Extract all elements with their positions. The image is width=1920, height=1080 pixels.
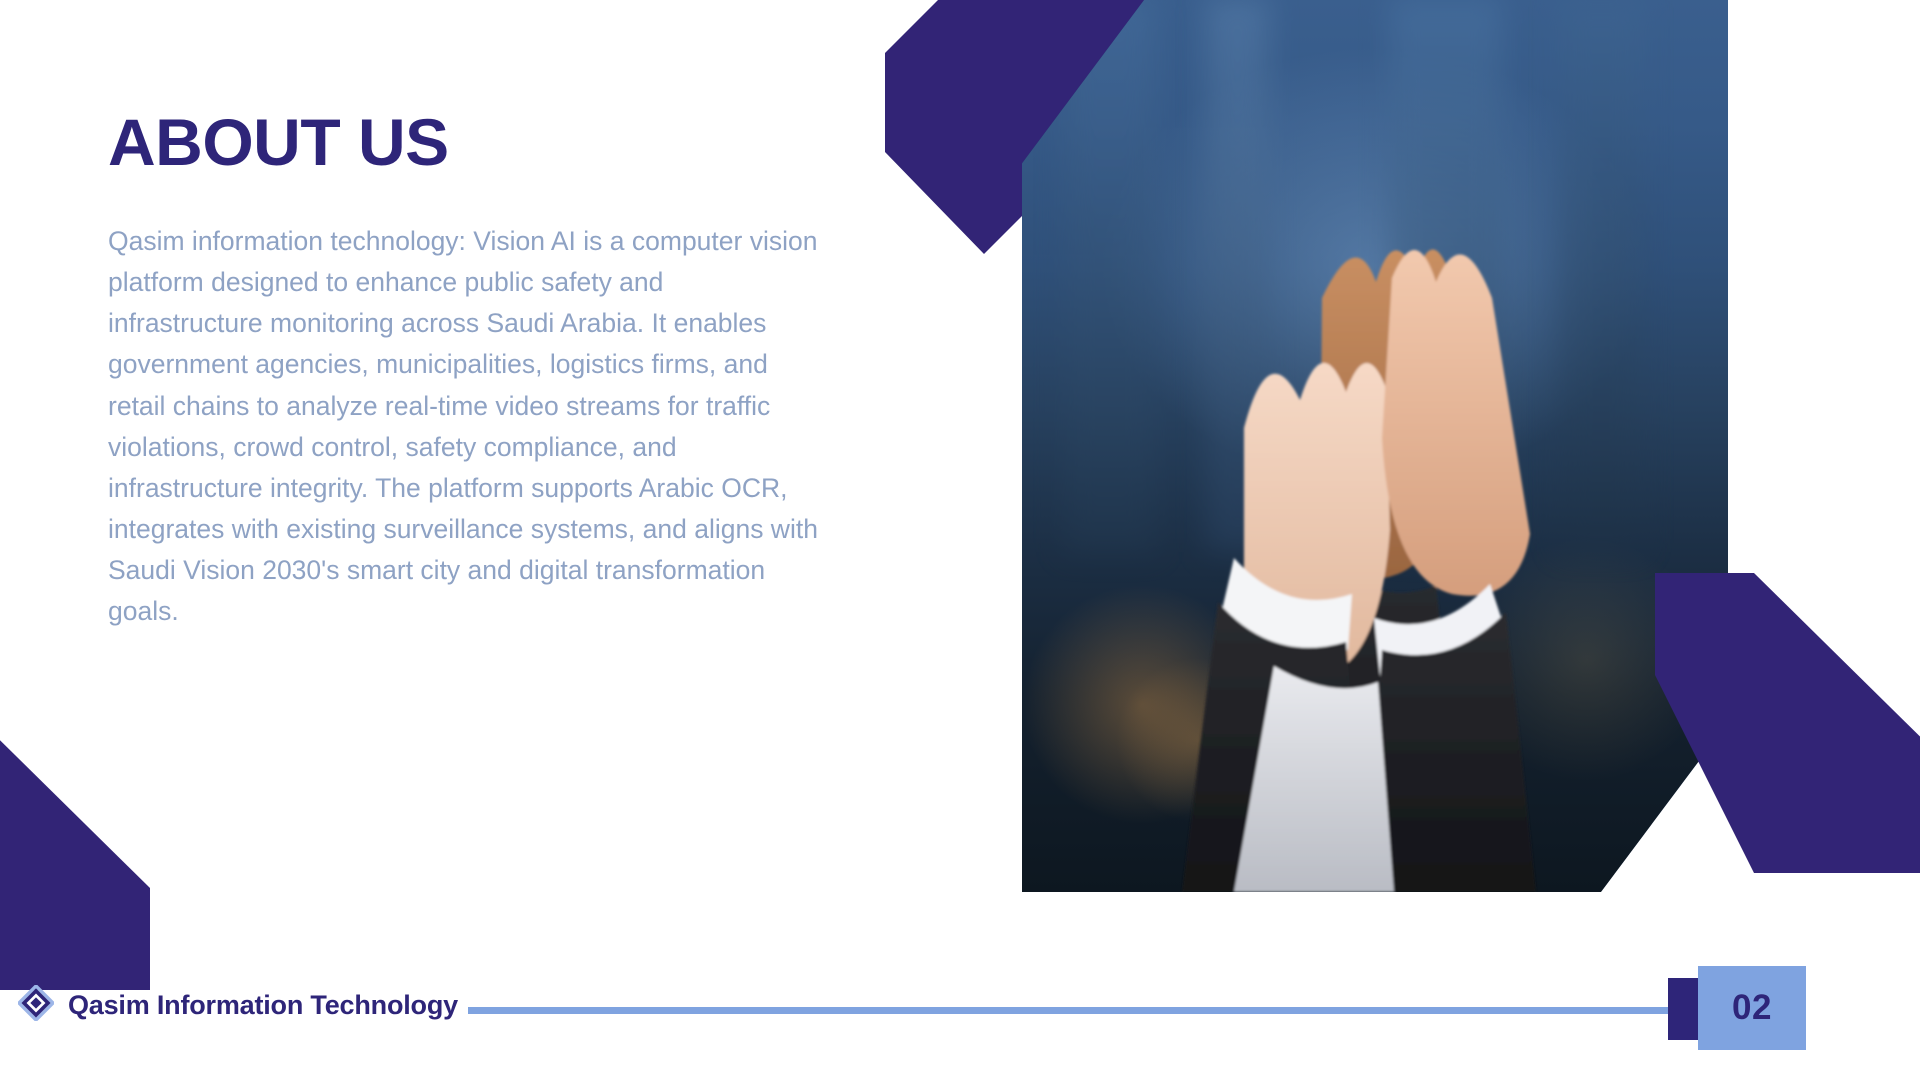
brand: Qasim Information Technology (18, 985, 458, 1026)
photo-background (1022, 0, 1728, 892)
brand-name: Qasim Information Technology (68, 990, 458, 1021)
page-title: ABOUT US (108, 108, 848, 177)
chevron-right-icon (1655, 573, 1920, 873)
page-number: 02 (1732, 988, 1772, 1028)
team-high-five-photo (1022, 0, 1728, 892)
diamond-logo-icon (18, 985, 54, 1026)
slide-about-us: ABOUT US Qasim information technology: V… (0, 0, 1920, 1080)
page-number-badge: 02 (1698, 966, 1806, 1050)
footer-divider (468, 1007, 1684, 1014)
footer: Qasim Information Technology 02 (0, 930, 1920, 1080)
about-description: Qasim information technology: Vision AI … (108, 221, 823, 632)
hands-illustration (1022, 0, 1728, 892)
text-column: ABOUT US Qasim information technology: V… (108, 108, 848, 632)
